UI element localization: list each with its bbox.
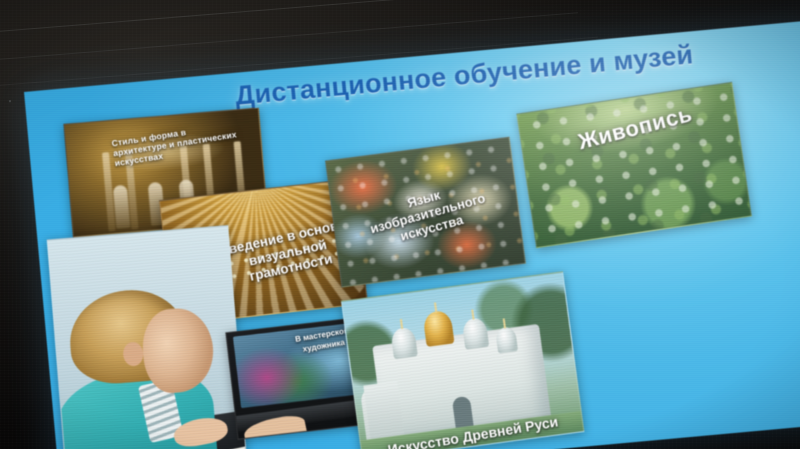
projected-slide: Дистанционное обучение и музей Стиль и ф… [24,18,800,449]
tile-student-photo [47,225,248,449]
photo-canvas: Дистанционное обучение и музей Стиль и ф… [0,0,800,449]
tile-ancient-rus: Искусство Древней Руси [341,271,584,449]
visitor-silhouette [112,185,130,229]
tile-fine-art-language: Язык изобразительного искусства [325,137,526,288]
